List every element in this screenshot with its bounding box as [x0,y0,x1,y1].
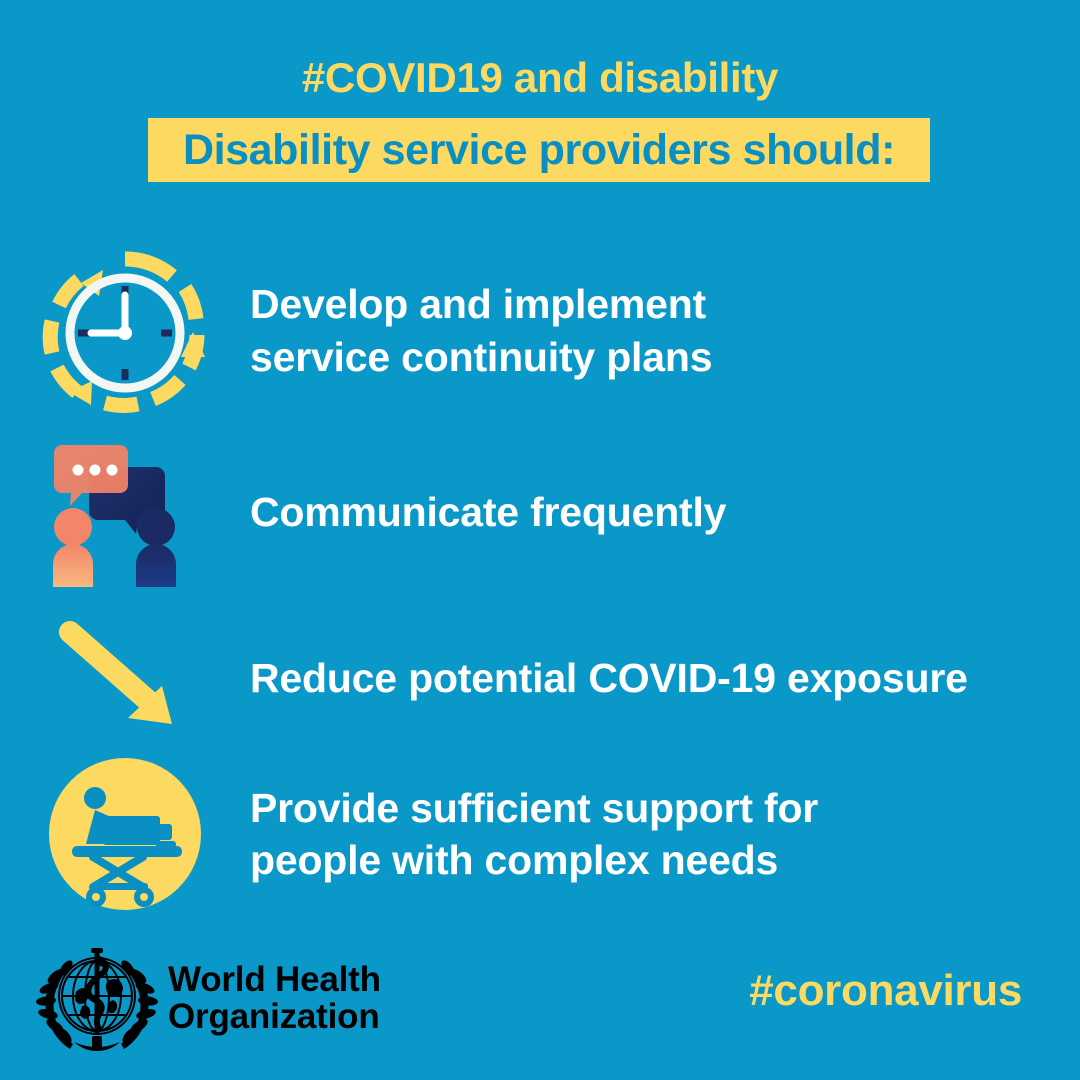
poster-canvas: #COVID19 and disability Disability servi… [0,0,1080,1080]
recommendation-text-3: Reduce potential COVID-19 exposure [250,652,968,704]
stretcher-patient-icon [48,757,203,912]
subhead-text: Disability service providers should: [183,129,895,172]
recommendation-icon-slot-1 [0,247,250,415]
recommendation-icon-slot-2 [0,435,250,590]
recommendation-text-1: Develop and implement service continuity… [250,278,712,383]
page-title: #COVID19 and disability [0,54,1080,102]
recommendation-text-4: Provide sufficient support for people wi… [250,782,818,887]
people-speech-bubbles-icon [40,435,210,590]
subhead-banner: Disability service providers should: [148,118,930,182]
hashtag-coronavirus: #coronavirus [749,966,1022,1016]
recommendation-text-2: Communicate frequently [250,486,726,538]
recommendation-row-3: Reduce potential COVID-19 exposure [0,608,1080,748]
recommendation-row-4: Provide sufficient support for people wi… [0,758,1080,910]
recommendation-row-2: Communicate frequently [0,432,1080,592]
who-emblem-icon [36,944,158,1052]
who-wordmark: World Health Organization [168,961,381,1035]
clock-refresh-icon [35,247,215,415]
recommendation-row-1: Develop and implement service continuity… [0,248,1080,413]
recommendation-icon-slot-3 [0,618,250,738]
down-right-arrow-icon [50,618,200,738]
who-logo: World Health Organization [36,944,381,1052]
recommendation-icon-slot-4 [0,757,250,912]
